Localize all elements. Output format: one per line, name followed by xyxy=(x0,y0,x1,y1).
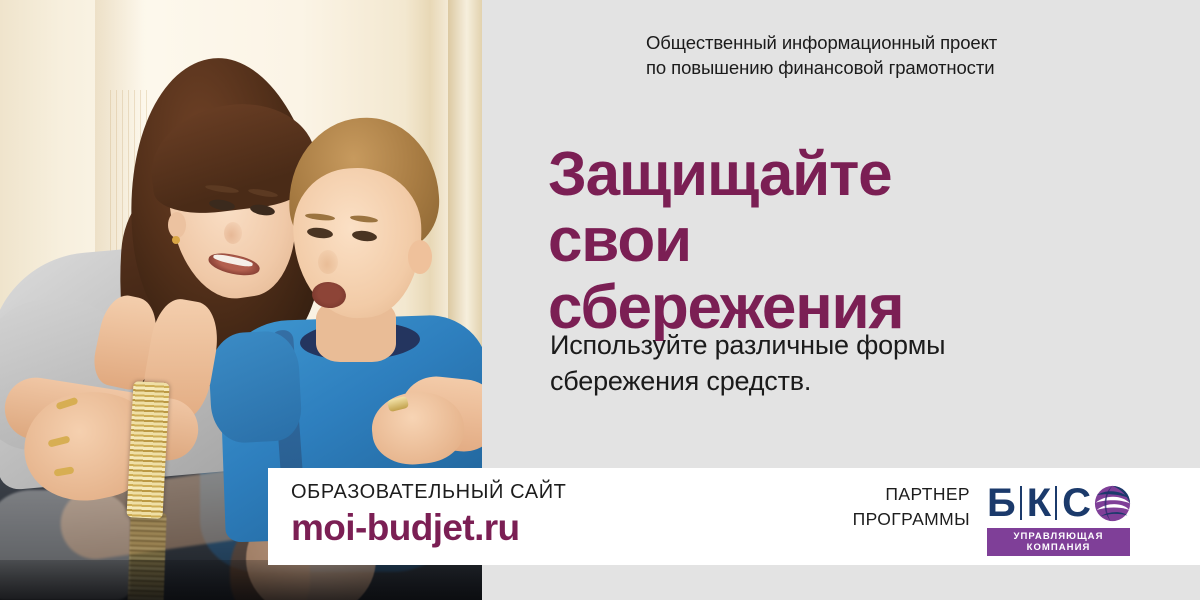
boy-sleeve xyxy=(207,330,303,445)
advertisement-banner: Общественный информационный проект по по… xyxy=(0,0,1200,600)
mother-earring xyxy=(172,236,180,244)
partner-line-1: ПАРТНЕР xyxy=(853,482,970,507)
partner-label: ПАРТНЕР ПРОГРАММЫ xyxy=(853,482,970,533)
bks-separator xyxy=(1055,486,1057,520)
site-label: ОБРАЗОВАТЕЛЬНЫЙ САЙТ xyxy=(291,480,567,504)
mother-nose xyxy=(224,222,242,244)
bks-tagline: УПРАВЛЯЮЩАЯ КОМПАНИЯ xyxy=(987,528,1130,556)
footer-bar: ОБРАЗОВАТЕЛЬНЫЙ САЙТ moi-budjet.ru ПАРТН… xyxy=(268,468,1200,565)
table-shadow-band xyxy=(0,560,482,600)
project-kicker: Общественный информационный проект по по… xyxy=(646,31,997,80)
bks-letter-k: К xyxy=(1027,483,1050,523)
coin-stack xyxy=(126,381,169,519)
bks-lettermark: Б К С xyxy=(987,481,1135,525)
globe-icon xyxy=(1094,485,1131,522)
bks-logo[interactable]: Б К С УПРАВЛЯЮЩАЯ КОМП xyxy=(987,481,1135,556)
site-url-link[interactable]: moi-budjet.ru xyxy=(291,506,567,550)
bks-separator xyxy=(1020,486,1022,520)
boy-nose xyxy=(318,250,338,274)
page-title: Защищайте свои сбережения xyxy=(548,142,1018,341)
bks-letter-s: С xyxy=(1062,483,1090,523)
site-block[interactable]: ОБРАЗОВАТЕЛЬНЫЙ САЙТ moi-budjet.ru xyxy=(291,480,567,550)
bks-letter-b: Б xyxy=(987,483,1015,523)
mother-ear xyxy=(168,212,186,238)
boy-ear xyxy=(408,240,432,274)
partner-line-2: ПРОГРАММЫ xyxy=(853,507,970,532)
subtitle: Используйте различные формы сбережения с… xyxy=(550,328,1030,400)
